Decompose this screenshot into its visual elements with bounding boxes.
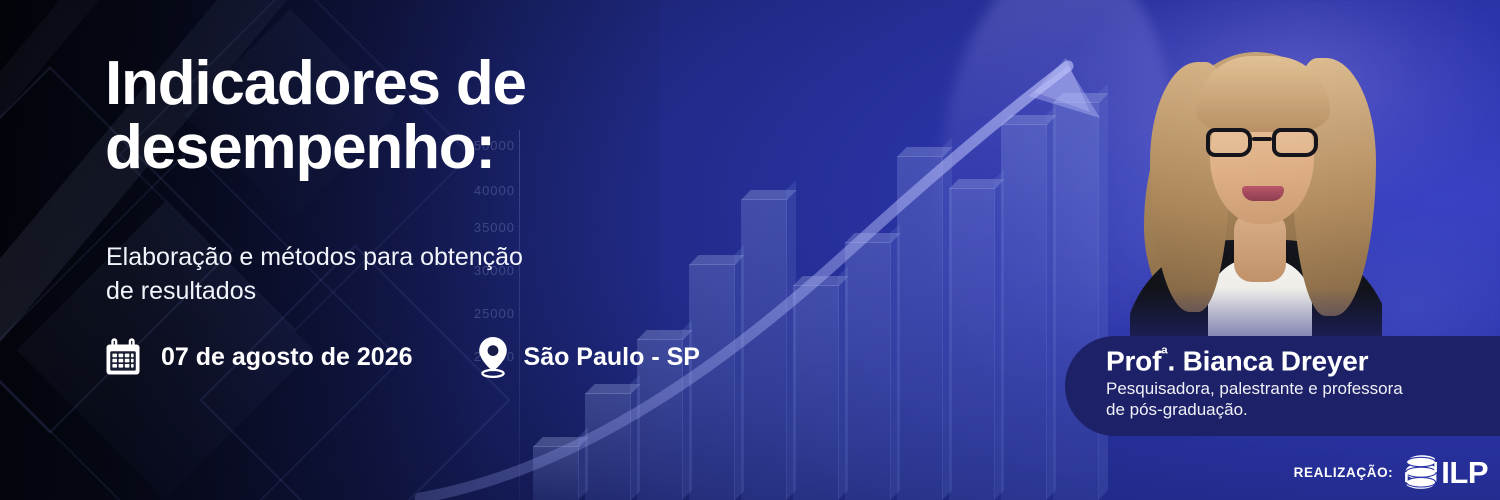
speaker-name-prefix: Prof: [1106, 345, 1161, 376]
speaker-role-line-2: de pós-graduação.: [1106, 399, 1500, 421]
realization-block: REALIZAÇÃO: ILP: [1294, 453, 1488, 491]
event-subtitle: Elaboração e métodos para obtenção de re…: [106, 241, 666, 309]
event-location-label: São Paulo - SP: [524, 343, 700, 372]
speaker-role-line-1: Pesquisadora, palestrante e professora: [1106, 378, 1500, 400]
event-title: Indicadores de desempenho:: [105, 52, 745, 180]
speaker-name: Profª. Bianca Dreyer: [1106, 345, 1500, 377]
ilp-logo[interactable]: ILP: [1403, 453, 1488, 491]
ilp-wordmark: ILP: [1441, 457, 1488, 488]
event-location-item: São Paulo - SP: [477, 336, 700, 378]
banner-content: Indicadores de desempenho: Elaboração e …: [0, 0, 1500, 500]
location-pin-icon: [477, 336, 509, 378]
event-meta-row: 07 de agosto de 2026 São Paulo - SP: [104, 336, 700, 378]
realization-label: REALIZAÇÃO:: [1294, 465, 1394, 480]
event-date-label: 07 de agosto de 2026: [161, 343, 413, 372]
ilp-cylinder-s-icon: [1403, 453, 1439, 491]
speaker-name-rest: . Bianca Dreyer: [1167, 345, 1368, 376]
speaker-badge: Profª. Bianca Dreyer Pesquisadora, pales…: [1065, 336, 1500, 436]
event-subtitle-line-2: de resultados: [106, 275, 666, 309]
event-title-line-2: desempenho:: [105, 116, 745, 180]
event-banner: 50000 40000 35000 30000 25000 20000: [0, 0, 1500, 500]
speaker-role: Pesquisadora, palestrante e professora d…: [1106, 378, 1500, 422]
event-date-item: 07 de agosto de 2026: [104, 338, 413, 376]
event-subtitle-line-1: Elaboração e métodos para obtenção: [106, 241, 666, 275]
calendar-icon: [104, 338, 142, 376]
event-title-line-1: Indicadores de: [105, 52, 745, 116]
